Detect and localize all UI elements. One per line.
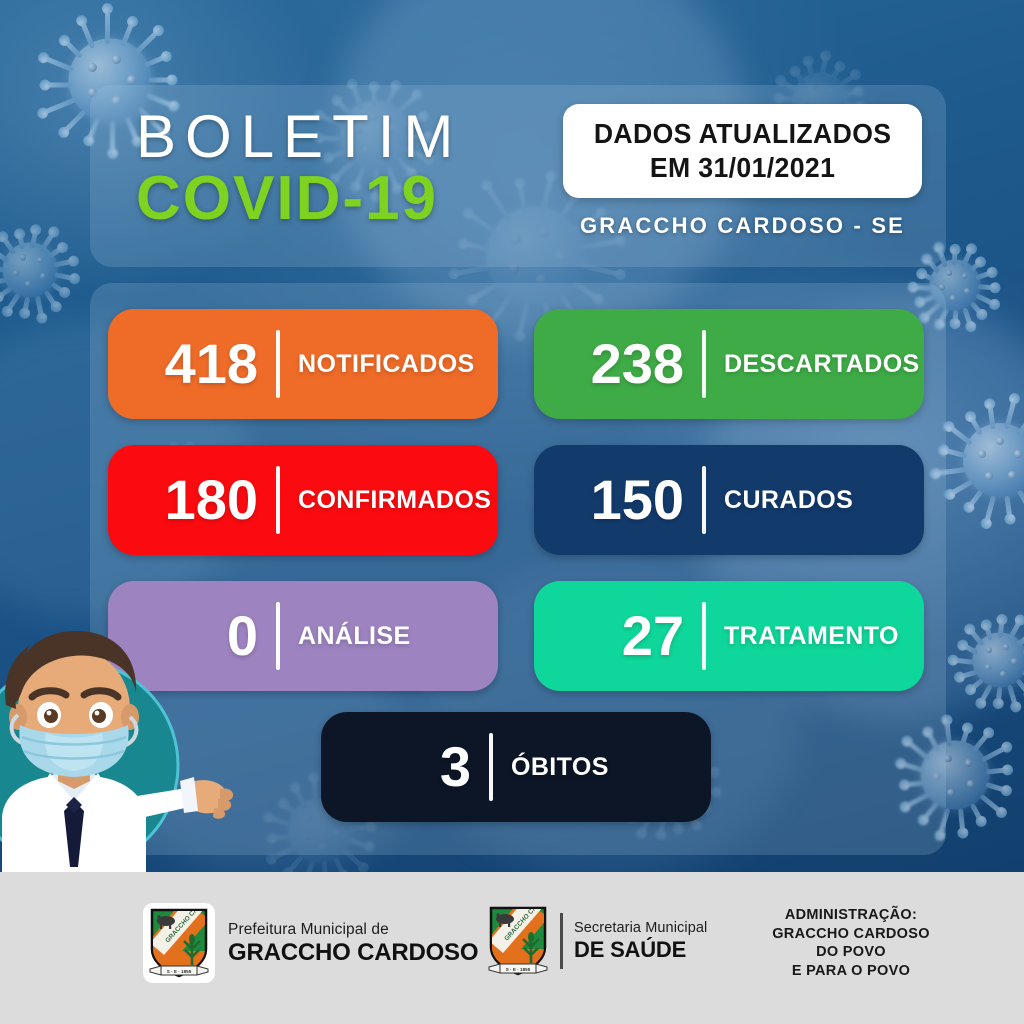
- virus-surface-dot: [88, 63, 97, 72]
- virus-spike: [61, 110, 86, 135]
- administration-line-3: DO POVO: [742, 943, 960, 962]
- administration-line-4: E PARA O POVO: [742, 962, 960, 981]
- administration-line-2: GRACCHO CARDOSO: [742, 925, 960, 944]
- coat-of-arms-icon-wrap: GRACCHO CARDOSO S · E · 1855: [143, 903, 215, 983]
- card-divider: [489, 733, 493, 801]
- virus-surface-dot: [1014, 450, 1022, 458]
- card-divider: [702, 466, 706, 534]
- stat-value-notificados: 418: [108, 336, 258, 392]
- stat-label-tratamento: TRATAMENTO: [724, 622, 899, 651]
- date-line-2: EM 31/01/2021: [650, 151, 835, 185]
- virus-spike: [966, 489, 983, 510]
- virus-spike: [41, 97, 77, 116]
- city-subtitle: GRACCHO CARDOSO - SE: [563, 213, 922, 239]
- title-boletim: BOLETIM: [136, 104, 462, 170]
- virus-spike: [958, 808, 965, 834]
- card-divider: [702, 602, 706, 670]
- virus-spike: [975, 270, 994, 281]
- card-divider: [702, 330, 706, 398]
- virus-spike: [971, 730, 991, 753]
- virus-surface-dot: [127, 75, 136, 84]
- virus-spike: [986, 767, 1009, 774]
- virus-spike: [50, 282, 67, 295]
- virus-spike: [322, 861, 329, 872]
- virus-spike: [48, 244, 66, 258]
- virus-spike: [105, 7, 110, 44]
- page-title: BOLETIM COVID-19: [136, 104, 462, 230]
- virus-surface-dot: [950, 295, 956, 301]
- virus-surface-dot: [964, 288, 970, 294]
- title-covid-19: COVID-19: [136, 168, 462, 230]
- stat-value-tratamento: 27: [534, 608, 684, 664]
- stat-label-notificados: NOTIFICADOS: [298, 350, 475, 379]
- virus-surface-dot: [13, 270, 19, 276]
- stat-label-analise: ANÁLISE: [298, 622, 411, 651]
- stat-card-descartados: 238 DESCARTADOS: [534, 309, 924, 419]
- virus-spike: [1004, 496, 1012, 521]
- brand-saude-line1: Secretaria Municipal: [574, 919, 707, 937]
- virus-spike: [979, 794, 1004, 816]
- virus-surface-dot: [947, 789, 955, 797]
- stat-card-curados: 150 CURADOS: [534, 445, 924, 555]
- virus-spike: [957, 669, 978, 680]
- virus-spike: [952, 310, 958, 326]
- virus-spike: [970, 301, 985, 317]
- virus-spike: [53, 258, 76, 267]
- stat-label-obitos: ÓBITOS: [511, 753, 609, 782]
- doctor-mascot: [0, 605, 238, 873]
- virus-spike: [975, 293, 997, 307]
- virus-surface-dot: [985, 472, 993, 480]
- virus-spike: [968, 678, 984, 692]
- virus-spike: [0, 286, 12, 299]
- stat-value-curados: 150: [534, 472, 684, 528]
- card-divider: [276, 602, 280, 670]
- brand-saude-text: Secretaria Municipal DE SAÚDE: [574, 919, 707, 963]
- card-divider: [276, 466, 280, 534]
- administration-text: ADMINISTRAÇÃO: GRACCHO CARDOSO DO POVO E…: [742, 906, 960, 980]
- virus-spike: [977, 284, 996, 290]
- virus-spike: [970, 803, 984, 824]
- stat-card-confirmados: 180 CONFIRMADOS: [108, 445, 498, 555]
- virus-spike: [304, 860, 315, 872]
- virus-spike: [285, 854, 304, 872]
- updated-date-box: DADOS ATUALIZADOS EM 31/01/2021: [563, 104, 922, 198]
- virus-spike: [134, 28, 161, 55]
- virus-spike: [962, 307, 973, 328]
- stat-card-obitos: 3 ÓBITOS: [321, 712, 711, 822]
- virus-spike: [946, 424, 973, 446]
- virus-surface-dot: [946, 270, 952, 276]
- svg-text:S · E · 1855: S · E · 1855: [167, 969, 192, 974]
- stat-value-descartados: 238: [534, 336, 684, 392]
- virus-particle-icon: [0, 210, 90, 330]
- virus-surface-dot: [1003, 644, 1009, 650]
- virus-spike: [980, 744, 1009, 763]
- virus-core: [963, 423, 1024, 497]
- virus-spike: [149, 78, 174, 83]
- virus-spike: [44, 290, 60, 310]
- virus-surface-dot: [985, 664, 991, 670]
- virus-surface-dot: [20, 254, 26, 260]
- virus-surface-dot: [37, 257, 43, 263]
- coat-of-arms-icon: GRACCHO CARDOSO S · E · 1855: [487, 905, 549, 977]
- brand-secretaria-saude: GRACCHO CARDOSO S · E · 1855 Secretaria …: [487, 905, 707, 977]
- virus-surface-dot: [967, 780, 975, 788]
- virus-spike: [960, 642, 979, 655]
- svg-text:S · E · 1855: S · E · 1855: [506, 967, 531, 972]
- stat-card-notificados: 418 NOTIFICADOS: [108, 309, 498, 419]
- virus-spike: [333, 856, 347, 872]
- stat-value-obitos: 3: [321, 739, 471, 795]
- date-line-1: DADOS ATUALIZADOS: [594, 117, 892, 151]
- virus-spike: [35, 296, 45, 321]
- card-divider: [276, 330, 280, 398]
- brand-prefeitura-line2: GRACCHO CARDOSO: [228, 939, 478, 967]
- brand-saude-line2: DE SAÚDE: [574, 937, 707, 963]
- virus-surface-dot: [962, 273, 968, 279]
- stat-value-confirmados: 180: [108, 472, 258, 528]
- virus-spike: [985, 782, 1009, 794]
- virus-spike: [0, 277, 7, 286]
- virus-spike: [44, 83, 72, 88]
- virus-spike: [983, 495, 996, 525]
- virus-spike: [22, 297, 30, 316]
- brand-divider: [560, 913, 563, 969]
- brand-prefeitura-line1: Prefeitura Municipal de: [228, 920, 478, 939]
- virus-surface-dot: [996, 437, 1004, 445]
- stat-label-descartados: DESCARTADOS: [724, 350, 920, 379]
- brand-prefeitura-text: Prefeitura Municipal de GRACCHO CARDOSO: [228, 920, 478, 967]
- stat-label-curados: CURADOS: [724, 486, 853, 515]
- virus-spike: [4, 293, 20, 314]
- virus-spike: [1015, 678, 1024, 697]
- virus-spike: [1017, 489, 1024, 520]
- virus-surface-dot: [40, 273, 46, 279]
- virus-spike: [947, 480, 973, 498]
- virus-spike: [62, 38, 83, 59]
- virus-surface-dot: [1011, 658, 1017, 664]
- stat-label-confirmados: CONFIRMADOS: [298, 486, 491, 515]
- stat-card-tratamento: 27 TRATAMENTO: [534, 581, 924, 691]
- brand-prefeitura: GRACCHO CARDOSO S · E · 1855 Prefeitura …: [143, 903, 478, 983]
- virus-spike: [144, 54, 169, 68]
- virus-surface-dot: [1008, 471, 1016, 479]
- virus-surface-dot: [1000, 671, 1006, 677]
- virus-spike: [54, 272, 77, 281]
- administration-line-1: ADMINISTRAÇÃO:: [742, 906, 960, 925]
- virus-spike: [1017, 413, 1024, 436]
- coat-of-arms-icon: GRACCHO CARDOSO S · E · 1855: [148, 907, 210, 979]
- virus-spike: [41, 55, 74, 72]
